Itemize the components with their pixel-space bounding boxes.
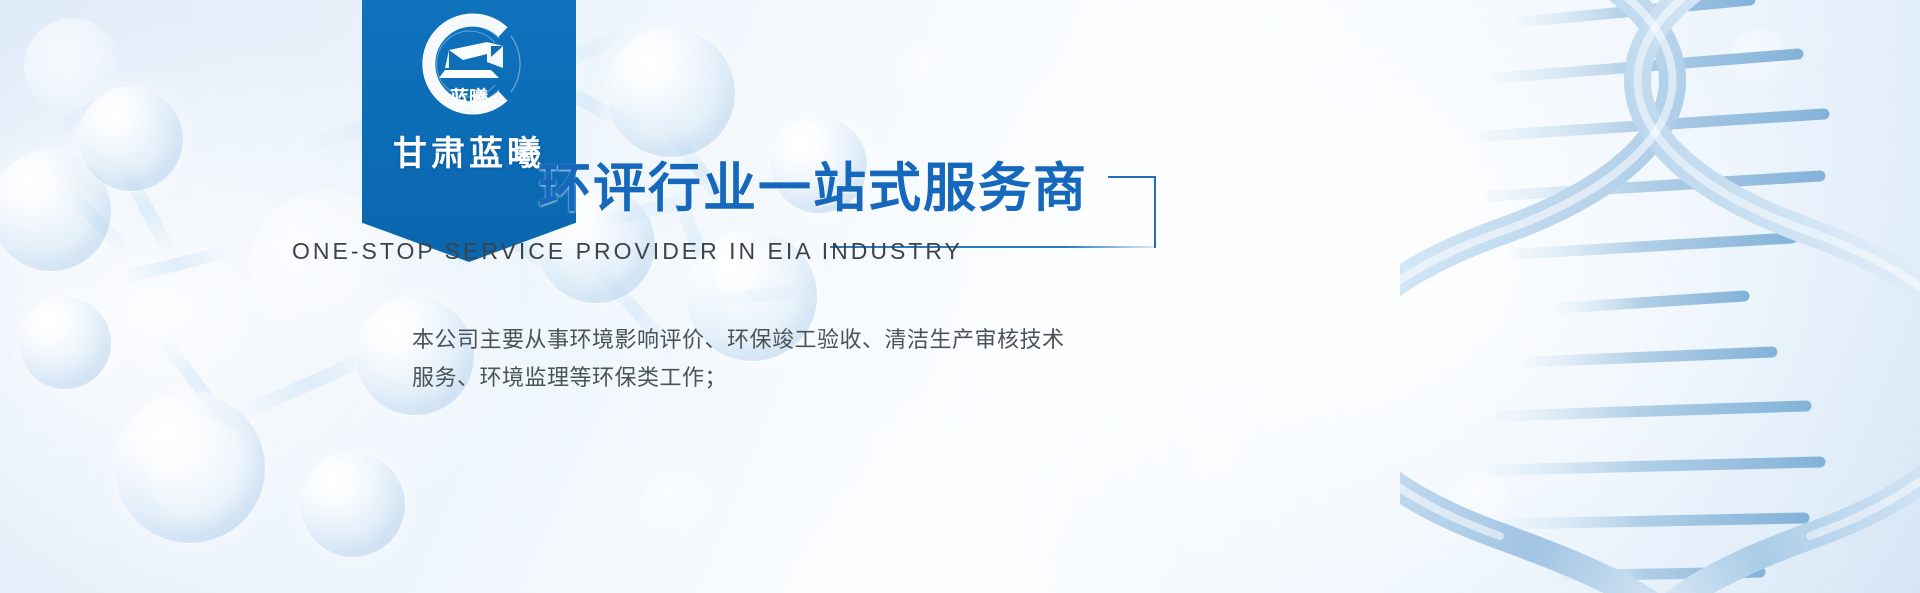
body-copy-line-2: 服务、环境监理等环保类工作； bbox=[412, 360, 1202, 398]
bracket-rule-vertical bbox=[1154, 176, 1156, 248]
bracket-rule-top bbox=[1108, 176, 1156, 178]
hero-banner: 蓝曦 甘肃蓝曦 环评行业一站式服务商 ONE-STOP SERVICE PROV… bbox=[0, 0, 1920, 593]
dna-double-helix-graphic bbox=[1400, 0, 1920, 593]
lanxi-circular-emblem-icon: 蓝曦 bbox=[399, 10, 539, 122]
headline: 环评行业一站式服务商 bbox=[538, 146, 1088, 222]
logo-wrapper: 蓝曦 bbox=[362, 10, 576, 122]
company-badge: 蓝曦 甘肃蓝曦 bbox=[362, 0, 576, 262]
body-copy: 本公司主要从事环境影响评价、环保竣工验收、清洁生产审核技术 服务、环境监理等环保… bbox=[412, 322, 1202, 398]
logo-text: 蓝曦 bbox=[450, 86, 488, 109]
background-decoration bbox=[0, 0, 1920, 593]
body-copy-line-1: 本公司主要从事环境影响评价、环保竣工验收、清洁生产审核技术 bbox=[412, 322, 1202, 360]
subtitle: ONE-STOP SERVICE PROVIDER IN EIA INDUSTR… bbox=[292, 238, 963, 265]
